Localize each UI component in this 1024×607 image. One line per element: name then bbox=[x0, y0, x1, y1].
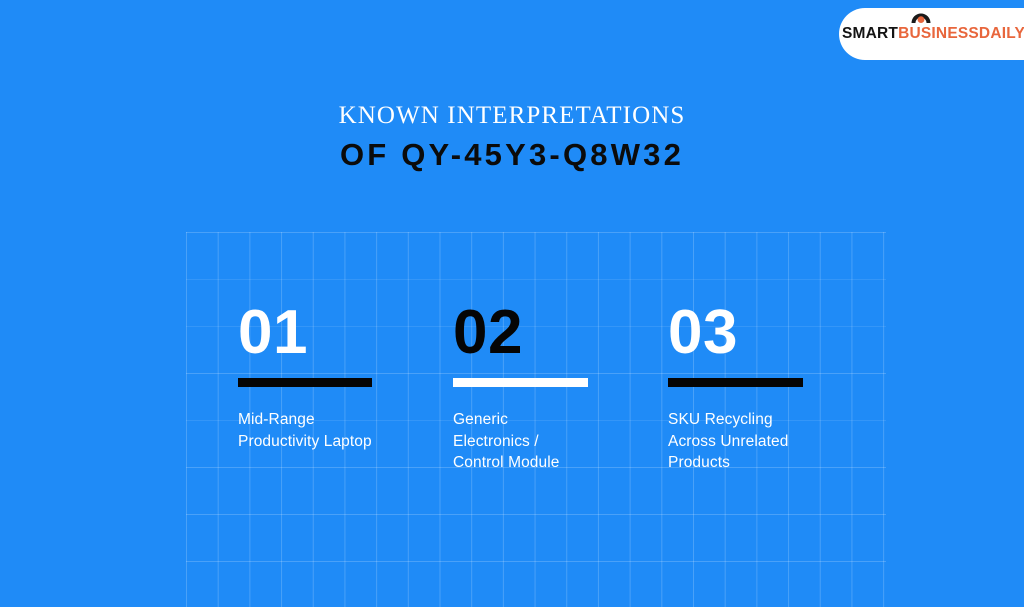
title-line-sku-code: OF QY-45Y3-Q8W32 bbox=[0, 139, 1024, 170]
page-title: KNOWN INTERPRETATIONS OF QY-45Y3-Q8W32 bbox=[0, 103, 1024, 170]
list-item: 03 SKU Recycling Across Unrelated Produc… bbox=[668, 300, 868, 474]
item-caption: SKU Recycling Across Unrelated Products bbox=[668, 409, 868, 474]
item-number: 01 bbox=[238, 300, 438, 366]
interpretation-list: 01 Mid-Range Productivity Laptop 02 Gene… bbox=[0, 300, 1024, 520]
arch-dot-logo-icon bbox=[910, 10, 932, 23]
list-item: 02 Generic Electronics / Control Module bbox=[453, 300, 653, 474]
item-caption: Mid-Range Productivity Laptop bbox=[238, 409, 438, 452]
logo-text-smart: SMART bbox=[842, 25, 898, 43]
title-line-primary: KNOWN INTERPRETATIONS bbox=[0, 103, 1024, 128]
logo-wordmark: SMART BUSINESSDAILY bbox=[842, 25, 1024, 43]
item-divider-bar bbox=[453, 378, 588, 387]
item-divider-bar bbox=[668, 378, 803, 387]
logo-text-businessdaily: BUSINESSDAILY bbox=[898, 25, 1024, 43]
logo-pill[interactable]: SMART BUSINESSDAILY bbox=[839, 8, 1024, 60]
item-divider-bar bbox=[238, 378, 372, 387]
list-item: 01 Mid-Range Productivity Laptop bbox=[238, 300, 438, 452]
infographic-canvas: SMART BUSINESSDAILY KNOWN INTERPRETATION… bbox=[0, 0, 1024, 607]
item-caption: Generic Electronics / Control Module bbox=[453, 409, 653, 474]
item-number: 02 bbox=[453, 300, 653, 366]
item-number: 03 bbox=[668, 300, 868, 366]
